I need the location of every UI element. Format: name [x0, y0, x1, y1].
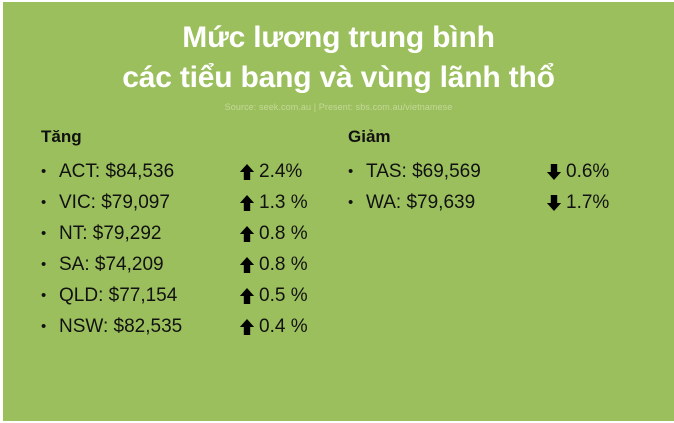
change-percent-value: 0.4 % — [259, 315, 308, 339]
list-item: •QLD: $77,1540.5 % — [41, 280, 341, 311]
change-group: 0.6% — [546, 156, 609, 187]
arrow-up-icon — [239, 194, 255, 212]
arrow-down-icon — [546, 163, 562, 181]
bullet-icon: • — [41, 164, 55, 179]
column-heading-decrease: Giảm — [348, 126, 648, 148]
bullet-icon: • — [41, 195, 55, 210]
list-item: •NT: $79,2920.8 % — [41, 218, 341, 249]
state-salary-label: NT: $79,292 — [59, 222, 161, 246]
change-percent-value: 1.7% — [566, 191, 609, 215]
change-percent-value: 0.8 % — [259, 222, 308, 246]
change-percent-value: 1.3 % — [259, 191, 308, 215]
change-group: 0.5 % — [239, 280, 308, 311]
arrow-up-icon — [239, 163, 255, 181]
state-salary-label: NSW: $82,535 — [59, 315, 182, 339]
list-item: •TAS: $69,5690.6% — [348, 156, 648, 187]
list-item: •VIC: $79,0971.3 % — [41, 187, 341, 218]
change-group: 1.3 % — [239, 187, 308, 218]
arrow-up-icon — [239, 318, 255, 336]
state-salary-label: SA: $74,209 — [59, 253, 164, 277]
list-item: •SA: $74,2090.8 % — [41, 249, 341, 280]
change-percent-value: 0.8 % — [259, 253, 308, 277]
change-group: 0.8 % — [239, 218, 308, 249]
change-percent-value: 0.6% — [566, 160, 609, 184]
list-item: •WA: $79,6391.7% — [348, 187, 648, 218]
state-salary-label: VIC: $79,097 — [59, 191, 170, 215]
bullet-icon: • — [348, 195, 362, 210]
column-decrease: Giảm •TAS: $69,5690.6%•WA: $79,6391.7% — [348, 126, 648, 218]
state-salary-label: WA: $79,639 — [366, 191, 475, 215]
bullet-icon: • — [41, 319, 55, 334]
bullet-icon: • — [41, 257, 55, 272]
data-columns: Tăng •ACT: $84,5362.4%•VIC: $79,0971.3 %… — [3, 126, 674, 366]
arrow-up-icon — [239, 256, 255, 274]
arrow-down-icon — [546, 194, 562, 212]
change-group: 0.4 % — [239, 311, 308, 342]
title-block: Mức lương trung bình các tiểu bang và vù… — [3, 18, 674, 113]
change-percent-value: 0.5 % — [259, 284, 308, 308]
change-percent-value: 2.4% — [259, 160, 302, 184]
decrease-row-list: •TAS: $69,5690.6%•WA: $79,6391.7% — [348, 156, 648, 218]
state-salary-label: QLD: $77,154 — [59, 284, 177, 308]
list-item: •ACT: $84,5362.4% — [41, 156, 341, 187]
bullet-icon: • — [41, 288, 55, 303]
page-title-line-1: Mức lương trung bình — [3, 18, 674, 58]
change-group: 2.4% — [239, 156, 302, 187]
change-group: 0.8 % — [239, 249, 308, 280]
arrow-up-icon — [239, 225, 255, 243]
bullet-icon: • — [348, 164, 362, 179]
column-increase: Tăng •ACT: $84,5362.4%•VIC: $79,0971.3 %… — [41, 126, 341, 342]
arrow-up-icon — [239, 287, 255, 305]
state-salary-label: ACT: $84,536 — [59, 160, 174, 184]
bullet-icon: • — [41, 226, 55, 241]
state-salary-label: TAS: $69,569 — [366, 160, 481, 184]
increase-row-list: •ACT: $84,5362.4%•VIC: $79,0971.3 %•NT: … — [41, 156, 341, 342]
change-group: 1.7% — [546, 187, 609, 218]
column-heading-increase: Tăng — [41, 126, 341, 148]
list-item: •NSW: $82,5350.4 % — [41, 311, 341, 342]
source-attribution: Source: seek.com.au | Present: sbs.com.a… — [3, 101, 674, 113]
slide: Mức lương trung bình các tiểu bang và vù… — [0, 0, 674, 423]
page-title-line-2: các tiểu bang và vùng lãnh thổ — [3, 58, 674, 98]
slide-canvas: Mức lương trung bình các tiểu bang và vù… — [3, 2, 674, 421]
